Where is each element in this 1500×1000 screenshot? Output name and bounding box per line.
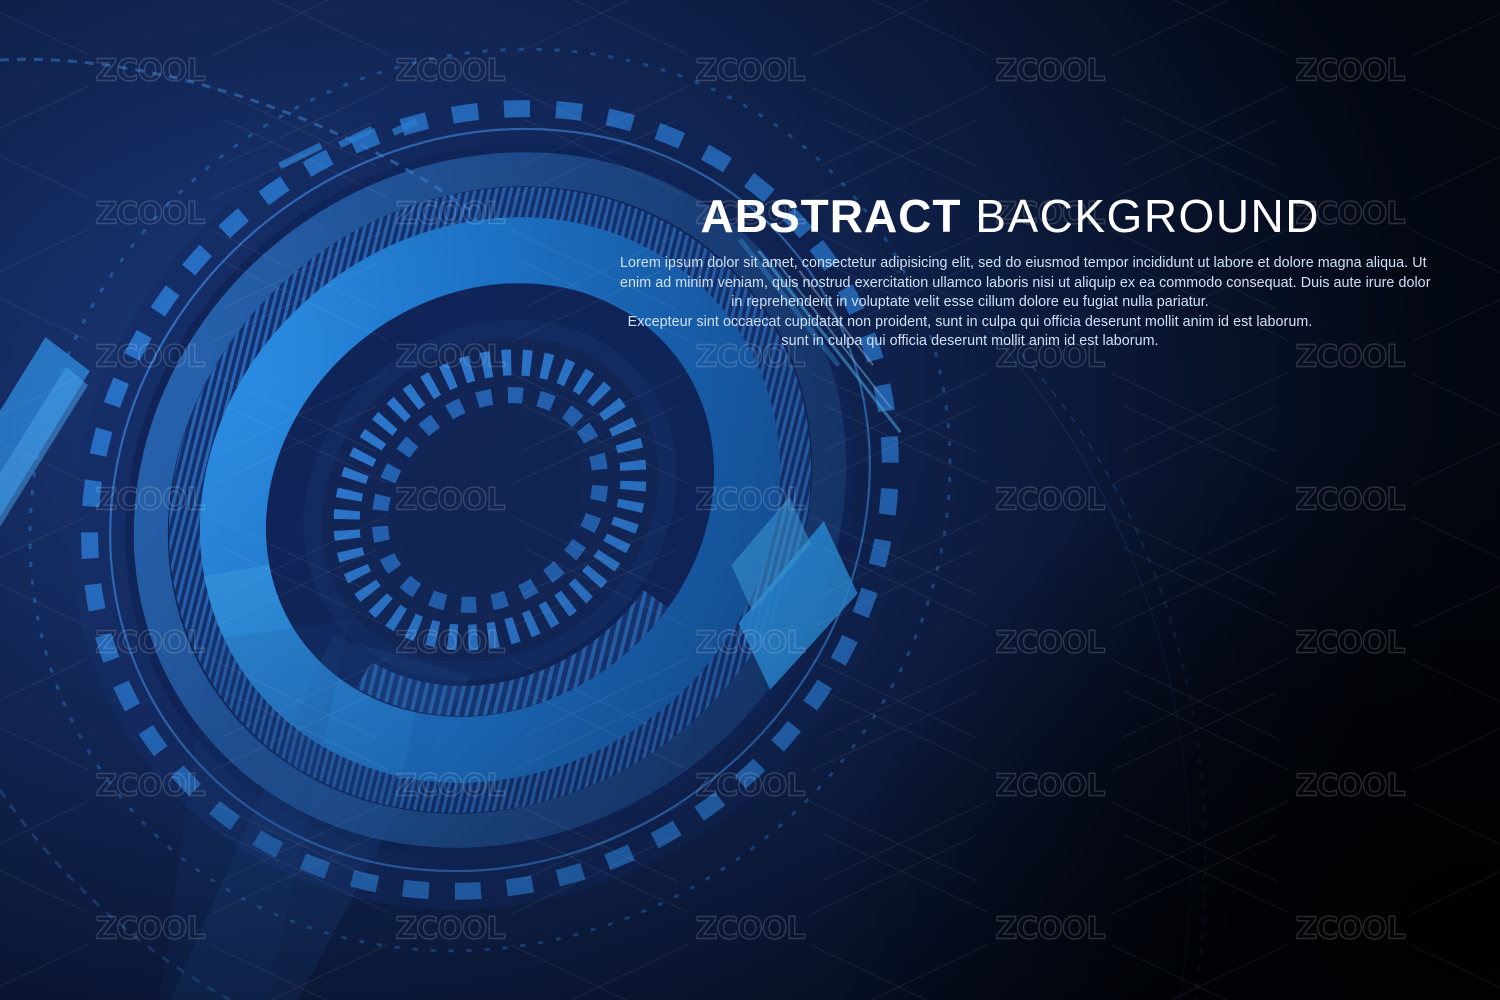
body-line: sunt in culpa qui officia deserunt molli… [620, 332, 1320, 351]
body-line: in reprehenderit in voluptate velit esse… [620, 293, 1320, 312]
body-line: Excepteur sint occaecat cupidatat non pr… [620, 313, 1320, 332]
text-block: ABSTRACT BACKGROUND Lorem ipsum dolor si… [620, 192, 1320, 351]
abstract-background-poster: ABSTRACT BACKGROUND Lorem ipsum dolor si… [0, 0, 1500, 1000]
title-light: BACKGROUND [975, 190, 1320, 242]
page-title: ABSTRACT BACKGROUND [620, 192, 1320, 240]
abstract-hud-circle [0, 0, 1500, 1000]
body-line: Lorem ipsum dolor sit amet, consectetur … [620, 254, 1320, 273]
title-bold: ABSTRACT [701, 190, 962, 242]
body-paragraph: Lorem ipsum dolor sit amet, consectetur … [620, 254, 1320, 351]
body-line: enim ad minim veniam, quis nostrud exerc… [620, 274, 1320, 293]
